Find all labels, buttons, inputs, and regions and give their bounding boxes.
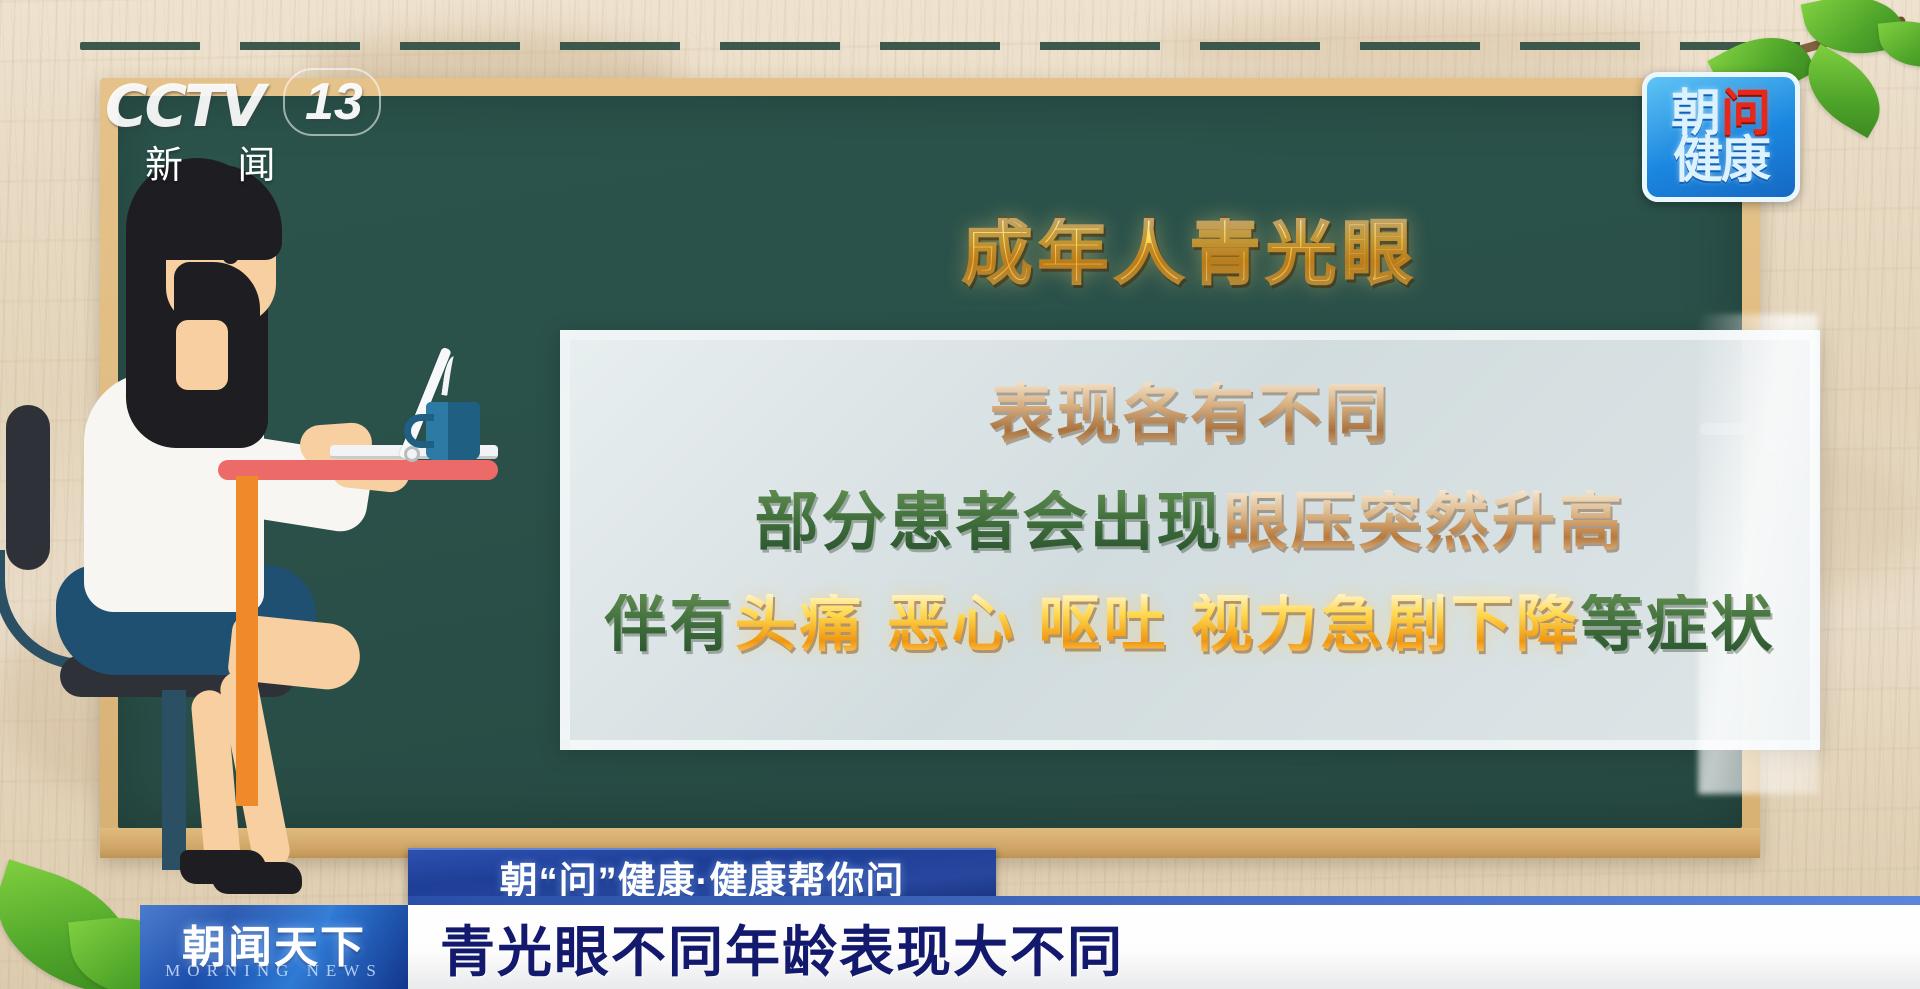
eye-icon bbox=[222, 246, 239, 264]
board-line-3-symptom-4: 视力急剧下降 bbox=[1191, 594, 1581, 656]
desk-top bbox=[218, 460, 498, 480]
board-line-2-segment-plain: 部分患者会出现 bbox=[755, 490, 1224, 554]
badge-char-chao: 朝 bbox=[1671, 90, 1721, 138]
board-line-3-symptom-3: 呕吐 bbox=[1039, 594, 1169, 656]
mug-handle bbox=[404, 414, 434, 448]
broadcast-screenshot: 成年人青光眼 表现各有不同 部分患者会出现眼压突然升高 伴有头痛恶心呕吐视力急剧… bbox=[0, 0, 1920, 989]
board-line-3-symptom-2: 恶心 bbox=[886, 594, 1016, 656]
desk-leg bbox=[236, 476, 258, 806]
badge-char-kang: 康 bbox=[1721, 137, 1769, 185]
chair-post bbox=[162, 690, 186, 870]
board-line-1: 表现各有不同 bbox=[560, 382, 1820, 446]
board-line-3-segment-plain-start: 伴有 bbox=[604, 594, 734, 656]
board-line-3-segment-plain-end: 等症状 bbox=[1581, 594, 1776, 656]
neck bbox=[176, 320, 228, 390]
headline-text: 青光眼不同年龄表现大不同 bbox=[440, 907, 1124, 987]
program-badge-row-top: 朝 问 bbox=[1671, 90, 1771, 138]
program-logo-en: MORNING NEWS bbox=[140, 961, 408, 981]
board-line-3: 伴有头痛恶心呕吐视力急剧下降等症状 bbox=[560, 594, 1820, 656]
program-badge: 朝 问 健 康 bbox=[1642, 72, 1800, 202]
lower-third-bar: 朝闻天下 MORNING NEWS 青光眼不同年龄表现大不同 bbox=[0, 905, 1920, 989]
channel-number: 13 bbox=[283, 68, 381, 136]
board-title: 成年人青光眼 bbox=[560, 218, 1820, 288]
headline-top-strip bbox=[408, 896, 1920, 905]
illustration-woman-at-laptop bbox=[0, 150, 620, 870]
decorative-dashed-line bbox=[80, 42, 1880, 50]
channel-subtitle: 新 闻 bbox=[145, 134, 298, 189]
board-line-3-symptom-1: 头痛 bbox=[734, 594, 864, 656]
program-logo: 朝闻天下 MORNING NEWS bbox=[140, 905, 408, 989]
badge-char-jian: 健 bbox=[1673, 137, 1721, 185]
program-badge-row-bottom: 健 康 bbox=[1673, 137, 1769, 185]
board-line-2-segment-highlight: 眼压突然升高 bbox=[1224, 490, 1626, 554]
shoe-icon bbox=[212, 862, 302, 894]
channel-logo: CCTV 13 新 闻 bbox=[105, 72, 395, 182]
laptop-hinge bbox=[404, 446, 420, 462]
badge-char-wen: 问 bbox=[1721, 90, 1771, 138]
headline-container: 青光眼不同年龄表现大不同 bbox=[408, 905, 1920, 989]
chair-back bbox=[6, 405, 50, 570]
board-line-1-segment: 表现各有不同 bbox=[989, 382, 1391, 446]
board-line-2: 部分患者会出现眼压突然升高 bbox=[560, 490, 1820, 554]
